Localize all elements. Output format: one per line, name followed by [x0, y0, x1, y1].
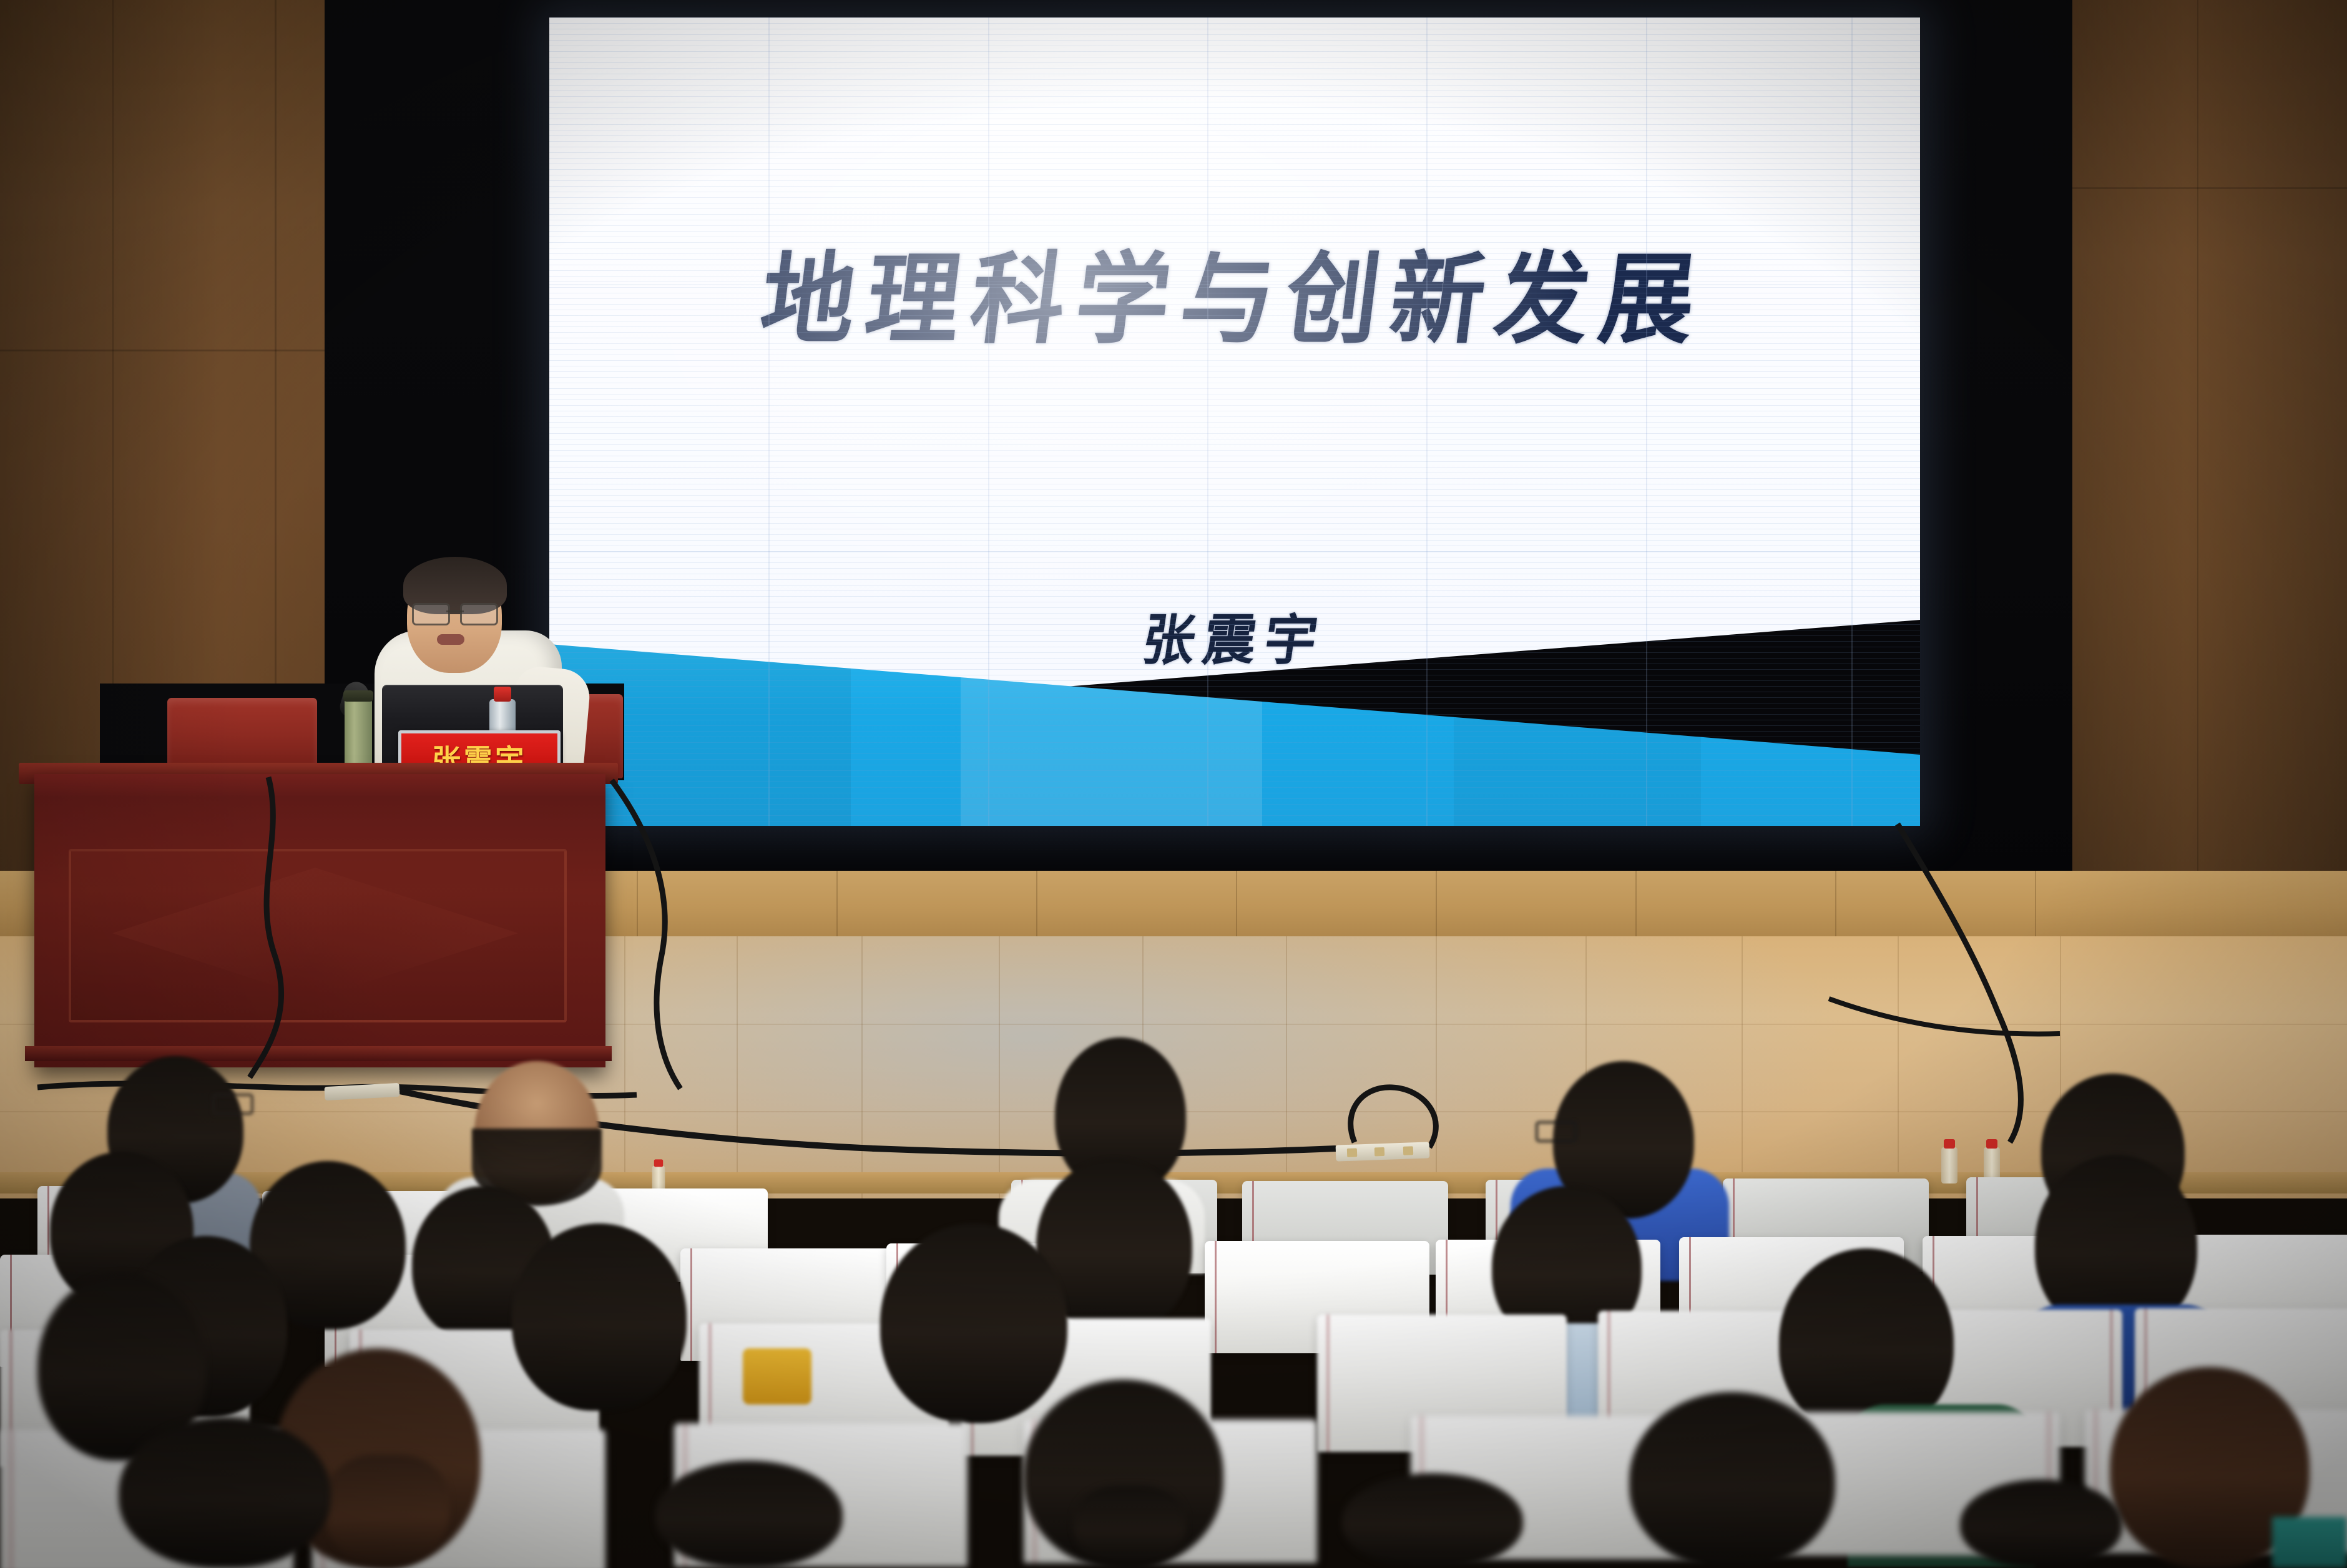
audience-head — [880, 1223, 1067, 1423]
audience-ponytail — [325, 1454, 449, 1568]
audience-person-shoulders — [2272, 1517, 2347, 1568]
slide-title: 地理科学与创新发展 — [549, 219, 1920, 363]
stage-water-bottle — [1941, 1147, 1957, 1183]
podium-base — [25, 1046, 612, 1061]
audience-head — [1960, 1479, 2122, 1568]
audience-head — [1342, 1473, 1523, 1568]
audience-head — [655, 1461, 843, 1568]
yellow-bag — [743, 1348, 811, 1404]
audience-ponytail — [1074, 1486, 1186, 1568]
presentation-screen: 地理科学与创新发展 张震宇 — [549, 17, 1920, 826]
audience-head — [1629, 1392, 1835, 1568]
right-wood-wall — [2054, 0, 2347, 911]
audience-head — [512, 1223, 687, 1411]
auditorium-scene: 地理科学与创新发展 张震宇 — [0, 0, 2347, 1568]
glasses-icon — [412, 603, 498, 622]
slide-author-name: 张震宇 — [549, 596, 1920, 675]
power-strip — [1336, 1142, 1430, 1161]
glasses-icon — [212, 1094, 253, 1115]
audience-head — [119, 1417, 331, 1568]
speaker-mouth — [437, 634, 464, 645]
glasses-icon — [1536, 1121, 1577, 1142]
